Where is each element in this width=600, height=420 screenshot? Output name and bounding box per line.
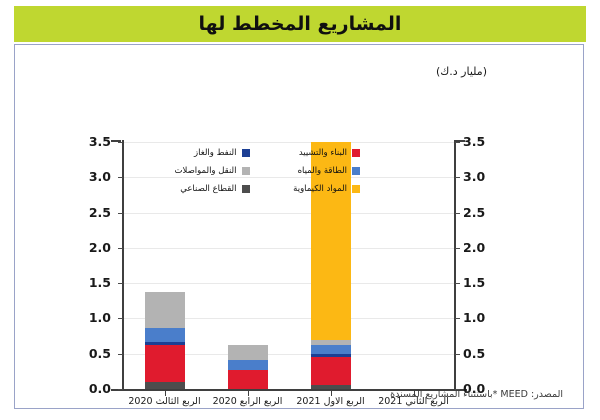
gridline [123, 248, 455, 249]
y-tick-left [118, 354, 123, 355]
legend-label: النقل والمواصلات [175, 166, 237, 176]
bar-stack [145, 292, 185, 389]
bar-segment [145, 292, 185, 329]
bar-segment [145, 342, 185, 344]
y-tick-label: 0.0 [77, 383, 111, 396]
legend-label: القطاع الصناعي [180, 184, 236, 194]
bar-segment [145, 345, 185, 382]
legend-swatch-icon [352, 185, 360, 193]
y-tick-right [455, 354, 460, 355]
y-tick-right [455, 318, 460, 319]
legend-item: النفط والغاز [145, 144, 250, 162]
y-tick-label: 0.5 [463, 348, 497, 361]
legend-item: القطاع الصناعي [145, 180, 250, 198]
y-tick-label: 3.0 [463, 171, 497, 184]
legend-swatch-icon [352, 149, 360, 157]
bar-segment [228, 345, 268, 360]
legend-swatch-icon [242, 149, 250, 157]
chart-card: (مليار د.ك) 0.00.00.50.51.01.01.51.52.02… [14, 44, 584, 409]
bar-segment [311, 357, 351, 385]
legend-swatch-icon [242, 185, 250, 193]
y-tick-label: 2.5 [77, 207, 111, 220]
legend-label: النفط والغاز [194, 148, 236, 158]
y-tick-label: 2.5 [463, 207, 497, 220]
y-tick-label: 3.5 [463, 136, 497, 149]
y-tick-left [118, 248, 123, 249]
screenshot-root: المشاريع المخطط لها (مليار د.ك) 0.00.00.… [0, 0, 600, 420]
bar-segment [311, 345, 351, 353]
bar-segment [228, 360, 268, 370]
bar-segment [145, 328, 185, 342]
gridline [123, 213, 455, 214]
y-tick-left [118, 177, 123, 178]
y-tick-label: 2.0 [463, 242, 497, 255]
y-tick-label: 0.5 [77, 348, 111, 361]
legend-item: البناء والتشييد [256, 144, 361, 162]
y-tick-label: 2.0 [77, 242, 111, 255]
bar-segment [145, 382, 185, 389]
gridline [123, 142, 455, 143]
y-tick-right [455, 142, 460, 143]
y-tick-label: 1.5 [463, 277, 497, 290]
bar-stack [228, 345, 268, 389]
title-banner: المشاريع المخطط لها [14, 6, 586, 42]
y-tick-left [118, 142, 123, 143]
y-tick-label: 3.0 [77, 171, 111, 184]
y-tick-right [455, 177, 460, 178]
x-tick-label: الربع الاول 2021 [285, 396, 377, 407]
y-tick-label: 3.5 [77, 136, 111, 149]
y-tick-right [455, 283, 460, 284]
page-title: المشاريع المخطط لها [199, 13, 402, 35]
y-tick-left [118, 389, 123, 390]
chart-legend: البناء والتشييدالنفط والغازالطاقة والميا… [145, 144, 360, 198]
bar-segment [311, 354, 351, 358]
y-tick-left [118, 283, 123, 284]
y-tick-right [455, 213, 460, 214]
legend-item: المواد الكيماوية [256, 180, 361, 198]
source-note: المصدر: MEED *باستثناء المشاريع المسندة [390, 389, 563, 400]
legend-item: الطاقة والمياه [256, 162, 361, 180]
y-tick-right [455, 248, 460, 249]
bar-segment [311, 385, 351, 389]
legend-label: الطاقة والمياه [298, 166, 347, 176]
bar-segment [228, 370, 268, 389]
legend-swatch-icon [352, 167, 360, 175]
y-tick-left [118, 213, 123, 214]
bar-segment [311, 340, 351, 346]
gridline [123, 283, 455, 284]
legend-item: النقل والمواصلات [145, 162, 250, 180]
legend-label: المواد الكيماوية [293, 184, 347, 194]
legend-swatch-icon [242, 167, 250, 175]
axis-unit-label: (مليار د.ك) [436, 65, 487, 78]
y-tick-label: 1.0 [463, 312, 497, 325]
y-tick-label: 1.5 [77, 277, 111, 290]
y-tick-left [118, 318, 123, 319]
y-tick-label: 1.0 [77, 312, 111, 325]
x-tick-label: الربع الرابع 2020 [202, 396, 294, 407]
legend-label: البناء والتشييد [299, 148, 347, 158]
x-tick-label: الربع الثالث 2020 [119, 396, 211, 407]
